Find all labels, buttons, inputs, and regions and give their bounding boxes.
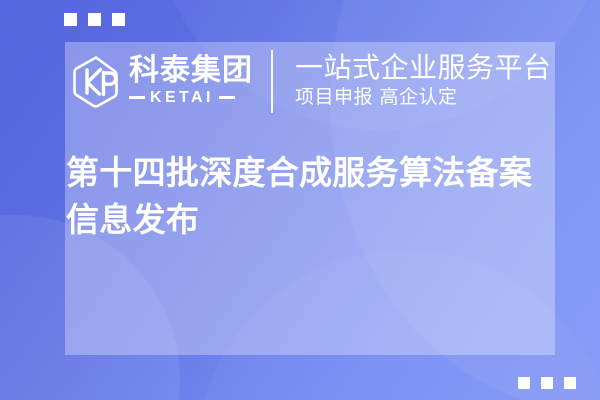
square-dot-icon bbox=[64, 13, 77, 26]
promo-banner: 科泰集团 KETAI 一站式企业服务平台 项目申报 高企认定 第十四批深度合成服… bbox=[0, 0, 600, 400]
tagline-sub: 项目申报 高企认定 bbox=[295, 85, 552, 110]
brand-name-en: KETAI bbox=[150, 90, 214, 106]
page-title: 第十四批深度合成服务算法备案信息发布 bbox=[66, 150, 558, 244]
tagline-main: 一站式企业服务平台 bbox=[295, 52, 552, 83]
ketai-diamond-kp-logo-icon bbox=[70, 53, 122, 109]
decor-dots-bottom-right bbox=[518, 377, 576, 389]
brand-name-en-row: KETAI bbox=[129, 90, 253, 106]
square-dot-icon bbox=[564, 377, 576, 389]
brand-header: 科泰集团 KETAI 一站式企业服务平台 项目申报 高企认定 bbox=[70, 46, 552, 116]
square-dot-icon bbox=[88, 13, 101, 26]
decor-dots-top-left bbox=[64, 13, 125, 26]
tagline-block: 一站式企业服务平台 项目申报 高企认定 bbox=[295, 52, 552, 110]
square-dot-icon bbox=[518, 377, 530, 389]
rule-left-icon bbox=[129, 96, 145, 99]
rule-right-icon bbox=[219, 96, 235, 99]
brand-wordmark: 科泰集团 KETAI bbox=[129, 56, 253, 106]
square-dot-icon bbox=[112, 13, 125, 26]
brand-name-cn: 科泰集团 bbox=[129, 56, 253, 87]
square-dot-icon bbox=[541, 377, 553, 389]
brand-divider bbox=[271, 50, 273, 113]
